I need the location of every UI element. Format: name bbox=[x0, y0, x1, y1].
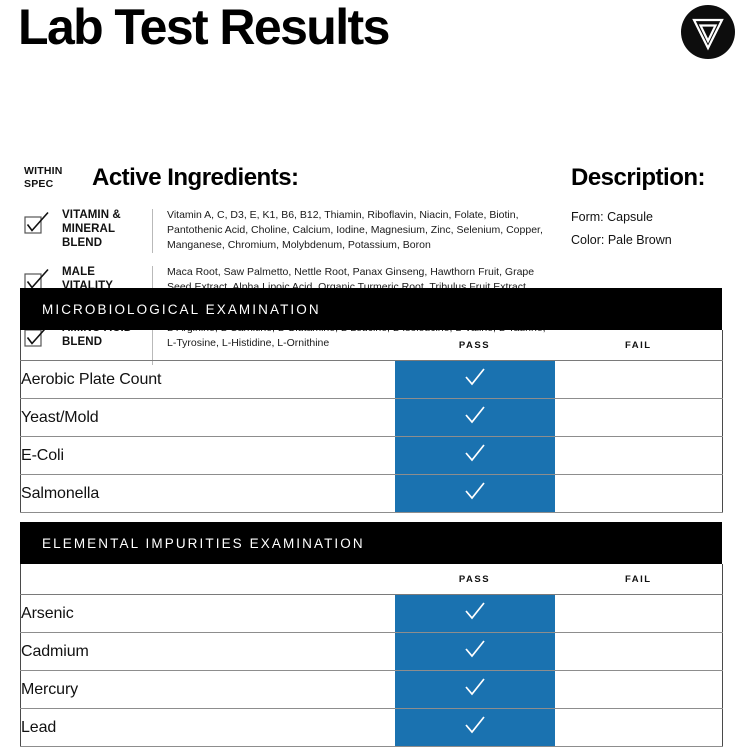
fail-cell[interactable] bbox=[555, 399, 723, 437]
results-tables: MICROBIOLOGICAL EXAMINATION PASS FAIL Ae… bbox=[20, 288, 722, 747]
table-header-row: PASS FAIL bbox=[21, 330, 723, 361]
test-name: Mercury bbox=[21, 671, 395, 709]
blend-row: VITAMIN & MINERAL BLEND Vitamin A, C, D3… bbox=[0, 208, 750, 253]
microbiological-results-table: PASS FAIL Aerobic Plate Count Yeast/Mold bbox=[20, 330, 723, 513]
test-name: E-Coli bbox=[21, 437, 395, 475]
blend-divider bbox=[152, 209, 153, 253]
table-row: Cadmium bbox=[21, 633, 723, 671]
pass-cell[interactable] bbox=[395, 595, 555, 633]
description-title: Description: bbox=[571, 164, 705, 192]
pass-cell[interactable] bbox=[395, 361, 555, 399]
column-header-name bbox=[21, 330, 395, 361]
test-name: Salmonella bbox=[21, 475, 395, 513]
fail-cell[interactable] bbox=[555, 437, 723, 475]
within-spec-checkbox[interactable] bbox=[0, 208, 62, 240]
check-icon bbox=[464, 640, 486, 663]
table-row: Salmonella bbox=[21, 475, 723, 513]
within-spec-label: WITHIN SPEC bbox=[24, 165, 63, 191]
triangle-v-logo-icon bbox=[680, 4, 736, 60]
table-row: Lead bbox=[21, 709, 723, 747]
fail-cell[interactable] bbox=[555, 709, 723, 747]
test-name: Cadmium bbox=[21, 633, 395, 671]
fail-cell[interactable] bbox=[555, 633, 723, 671]
check-icon bbox=[464, 602, 486, 625]
check-icon bbox=[464, 444, 486, 467]
pass-cell[interactable] bbox=[395, 399, 555, 437]
table-row: Arsenic bbox=[21, 595, 723, 633]
page-title: Lab Test Results bbox=[18, 2, 389, 52]
column-header-fail: FAIL bbox=[555, 330, 723, 361]
ingredients-section: WITHIN SPEC Active Ingredients: Descript… bbox=[0, 72, 750, 280]
table-header-row: PASS FAIL bbox=[21, 564, 723, 595]
section-header-microbiological: MICROBIOLOGICAL EXAMINATION bbox=[20, 288, 722, 330]
table-row: E-Coli bbox=[21, 437, 723, 475]
column-header-name bbox=[21, 564, 395, 595]
test-name: Arsenic bbox=[21, 595, 395, 633]
pass-cell[interactable] bbox=[395, 633, 555, 671]
pass-cell[interactable] bbox=[395, 437, 555, 475]
check-icon bbox=[464, 406, 486, 429]
fail-cell[interactable] bbox=[555, 475, 723, 513]
section-header-elemental-impurities: ELEMENTAL IMPURITIES EXAMINATION bbox=[20, 522, 722, 564]
fail-cell[interactable] bbox=[555, 671, 723, 709]
test-name: Yeast/Mold bbox=[21, 399, 395, 437]
table-row: Mercury bbox=[21, 671, 723, 709]
pass-cell[interactable] bbox=[395, 709, 555, 747]
check-icon bbox=[464, 368, 486, 391]
checkbox-checked-icon bbox=[24, 211, 62, 240]
blend-ingredient-list: Vitamin A, C, D3, E, K1, B6, B12, Thiami… bbox=[167, 208, 750, 253]
fail-cell[interactable] bbox=[555, 595, 723, 633]
document-header: Lab Test Results bbox=[0, 0, 750, 72]
fail-cell[interactable] bbox=[555, 361, 723, 399]
blend-name: VITAMIN & MINERAL BLEND bbox=[62, 208, 152, 250]
table-spacer bbox=[20, 513, 722, 522]
table-row: Yeast/Mold bbox=[21, 399, 723, 437]
column-header-pass: PASS bbox=[395, 564, 555, 595]
test-name: Aerobic Plate Count bbox=[21, 361, 395, 399]
pass-cell[interactable] bbox=[395, 475, 555, 513]
active-ingredients-title: Active Ingredients: bbox=[92, 164, 299, 192]
elemental-impurities-results-table: PASS FAIL Arsenic Cadmium bbox=[20, 564, 723, 747]
column-header-fail: FAIL bbox=[555, 564, 723, 595]
column-header-pass: PASS bbox=[395, 330, 555, 361]
check-icon bbox=[464, 716, 486, 739]
check-icon bbox=[464, 678, 486, 701]
table-row: Aerobic Plate Count bbox=[21, 361, 723, 399]
pass-cell[interactable] bbox=[395, 671, 555, 709]
check-icon bbox=[464, 482, 486, 505]
test-name: Lead bbox=[21, 709, 395, 747]
